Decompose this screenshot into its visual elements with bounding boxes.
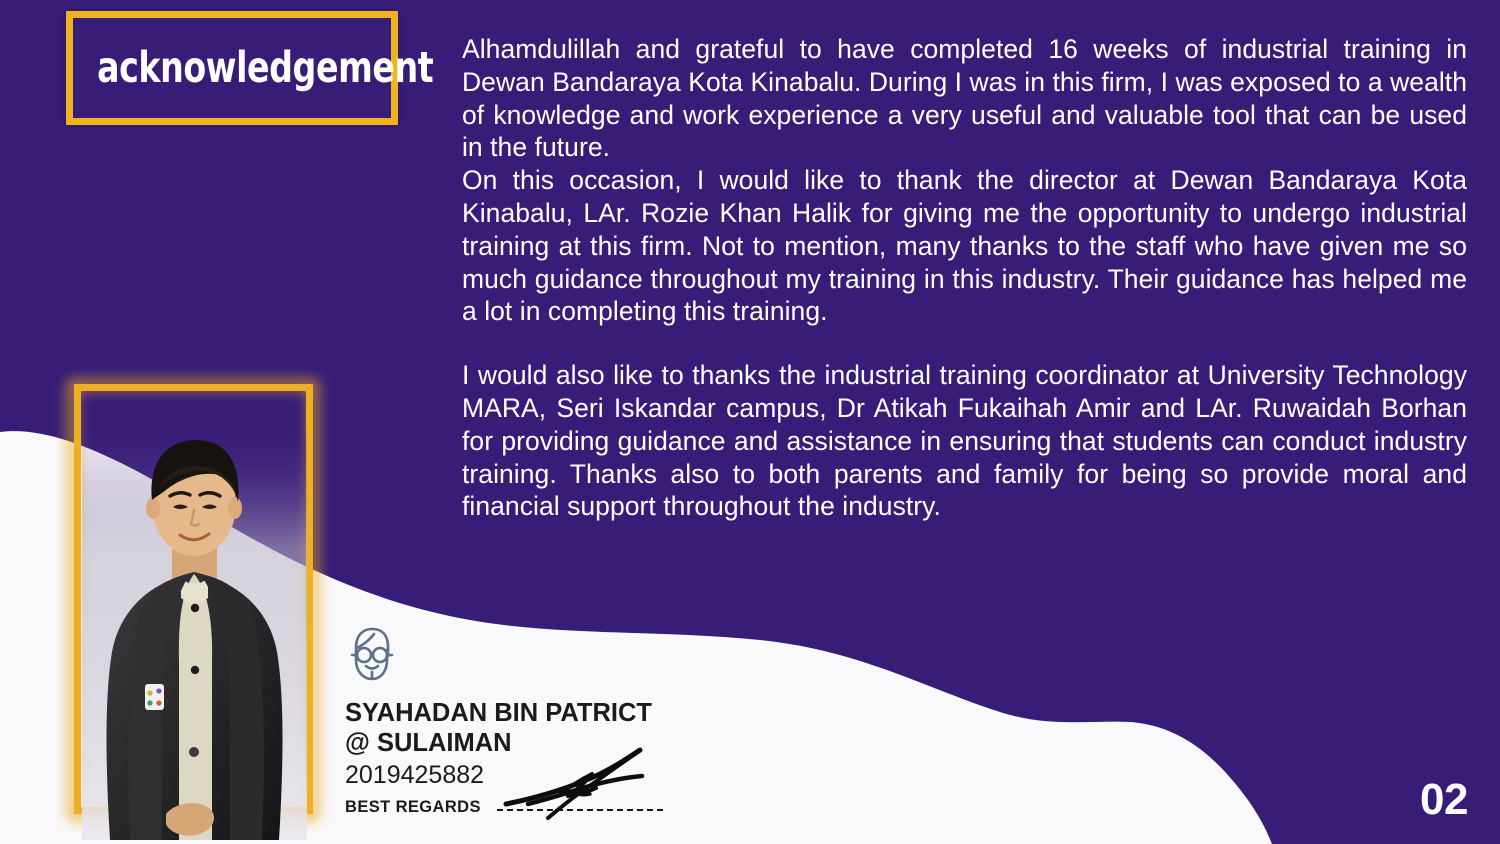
acknowledgement-slide: acknowledgement Alhamdulillah and gratef… xyxy=(0,0,1500,844)
title-box: acknowledgement xyxy=(66,11,398,125)
signature-line-area xyxy=(497,796,667,816)
body-text-column: Alhamdulillah and grateful to have compl… xyxy=(462,33,1467,523)
signature-block: SYAHADAN BIN PATRICT @ SULAIMAN 20194258… xyxy=(345,626,725,816)
best-regards-row: BEST REGARDS xyxy=(345,796,725,816)
student-portrait-photo xyxy=(82,422,307,840)
signer-student-id: 2019425882 xyxy=(345,759,725,791)
best-regards-label: BEST REGARDS xyxy=(345,798,481,816)
portrait-photo-block xyxy=(62,374,330,840)
paragraph-1: Alhamdulillah and grateful to have compl… xyxy=(462,33,1467,164)
paragraph-3: I would also like to thanks the industri… xyxy=(462,359,1467,523)
page-number: 02 xyxy=(1420,778,1468,822)
page-title: acknowledgement xyxy=(73,47,433,90)
signer-name: SYAHADAN BIN PATRICT @ SULAIMAN xyxy=(345,698,675,758)
signature-dashed-line xyxy=(497,809,663,811)
person-with-glasses-icon xyxy=(345,626,397,684)
paragraph-2: On this occasion, I would like to thank … xyxy=(462,164,1467,328)
